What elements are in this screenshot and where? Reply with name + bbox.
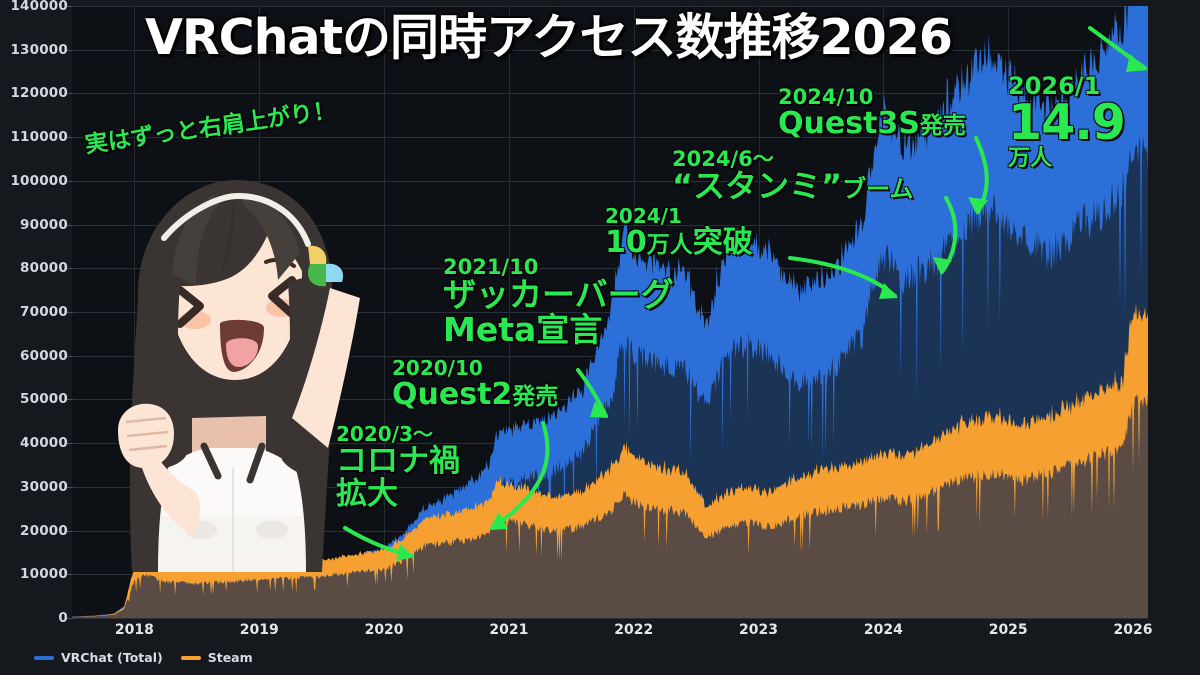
- x-axis-label: 2019: [240, 622, 279, 638]
- y-axis-label: 10000: [0, 566, 68, 582]
- y-axis-label: 30000: [0, 479, 68, 495]
- annotation-stanmi-line1: “スタンミ”: [672, 167, 842, 205]
- annotation-quest2-date: 2020/10: [392, 358, 558, 379]
- annotation-stanmi: 2024/6〜 “スタンミ”ブーム: [672, 148, 913, 204]
- y-axis-label: 40000: [0, 435, 68, 451]
- annotation-100k-date: 2024/1: [605, 206, 753, 227]
- y-axis-label: 130000: [0, 42, 68, 58]
- x-axis-label: 2024: [864, 622, 903, 638]
- legend-swatch-icon: [181, 656, 201, 660]
- y-axis-label: 110000: [0, 129, 68, 145]
- legend-label: VRChat (Total): [61, 650, 163, 665]
- annotation-100k-number: 10: [605, 225, 647, 260]
- chart-legend: VRChat (Total)Steam: [34, 650, 253, 665]
- y-axis-label: 70000: [0, 304, 68, 320]
- annotation-quest3s: 2024/10 Quest3S発売: [778, 86, 966, 140]
- annotation-stanmi-line2: ブーム: [842, 175, 913, 203]
- y-axis-label: 100000: [0, 173, 68, 189]
- annotation-corona-line1: コロナ禍: [336, 443, 460, 479]
- annotation-corona-date: 2020/3〜: [336, 424, 460, 445]
- y-axis-label: 20000: [0, 523, 68, 539]
- y-axis-label: 90000: [0, 217, 68, 233]
- annotation-100k: 2024/1 10万人突破: [605, 206, 753, 259]
- annotation-100k-unit: 万人: [647, 232, 693, 258]
- annotation-100k-verb: 突破: [693, 225, 753, 260]
- x-axis-label: 2022: [614, 622, 653, 638]
- annotation-meta: 2021/10 ザッカーバーグ Meta宣言: [443, 256, 674, 348]
- annotation-corona: 2020/3〜 コロナ禍 拡大: [336, 424, 460, 511]
- y-axis-label: 50000: [0, 391, 68, 407]
- annotation-peak-value: 14.9: [1008, 99, 1125, 147]
- x-axis-label: 2021: [489, 622, 528, 638]
- x-axis-label: 2026: [1114, 622, 1153, 638]
- legend-item[interactable]: Steam: [181, 650, 253, 665]
- annotation-quest3s-line1: Quest3S: [778, 106, 920, 141]
- annotation-peak: 2026/1 14.9 万人: [1008, 74, 1125, 172]
- annotation-quest2-line2: 発売: [512, 384, 558, 410]
- y-axis-label: 140000: [0, 0, 68, 14]
- y-axis-label: 60000: [0, 348, 68, 364]
- annotation-meta-line2: Meta宣言: [443, 310, 602, 349]
- page-title: VRChatの同時アクセス数推移2026: [145, 12, 1075, 63]
- legend-item[interactable]: VRChat (Total): [34, 650, 163, 665]
- annotation-quest3s-date: 2024/10: [778, 86, 966, 108]
- y-axis-label: 80000: [0, 260, 68, 276]
- chart-screenshot: 0100002000030000400005000060000700008000…: [0, 0, 1200, 675]
- legend-swatch-icon: [34, 656, 54, 660]
- annotation-quest3s-line2: 発売: [920, 113, 966, 139]
- y-axis-label: 0: [0, 610, 68, 626]
- annotation-peak-unit: 万人: [1008, 147, 1125, 171]
- x-axis-label: 2018: [115, 622, 154, 638]
- gridline-horizontal: [72, 618, 1148, 619]
- character-illustration: [96, 168, 360, 572]
- annotation-quest2: 2020/10 Quest2発売: [392, 358, 558, 411]
- legend-label: Steam: [208, 650, 253, 665]
- annotation-meta-line1: ザッカーバーグ: [443, 275, 674, 314]
- y-axis-label: 120000: [0, 85, 68, 101]
- x-axis-label: 2023: [739, 622, 778, 638]
- x-axis-label: 2020: [365, 622, 404, 638]
- x-axis-label: 2025: [989, 622, 1028, 638]
- annotation-quest2-line1: Quest2: [392, 377, 512, 412]
- annotation-corona-line2: 拡大: [336, 476, 398, 512]
